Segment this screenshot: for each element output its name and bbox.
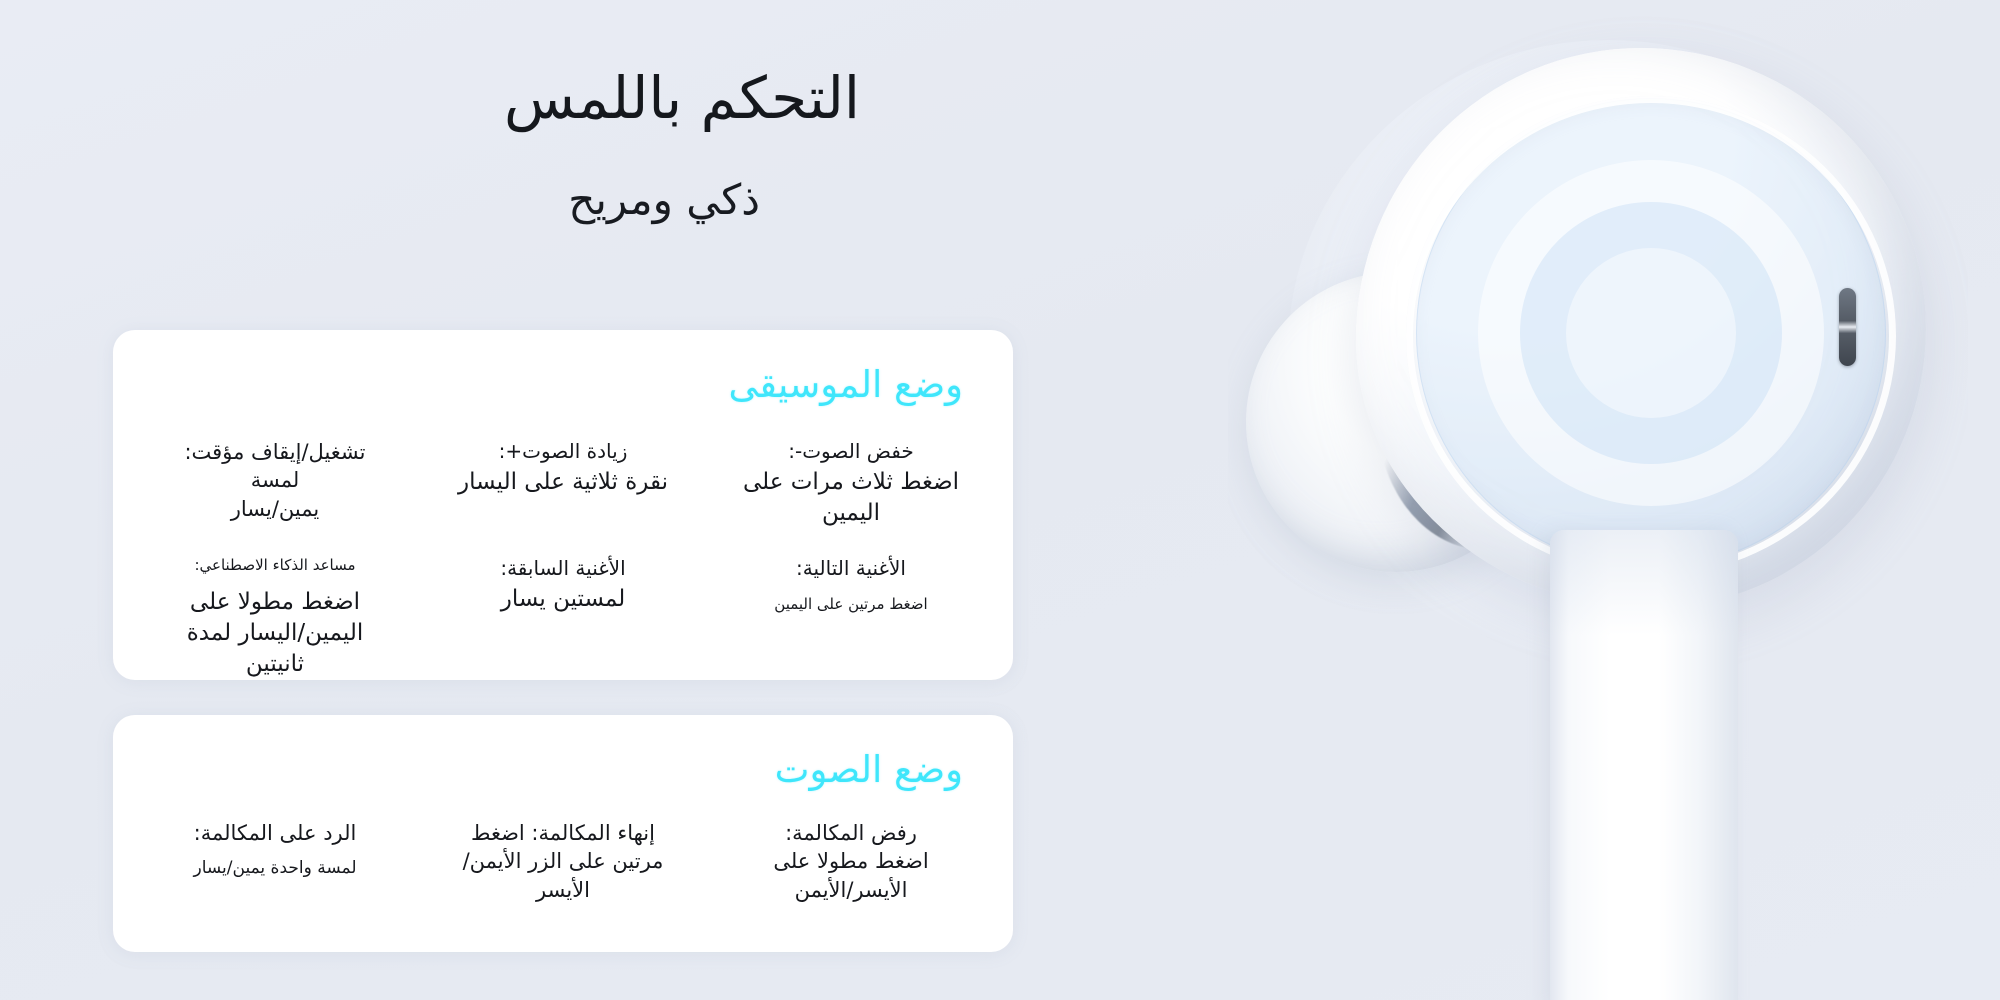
feature-label: الأغنية السابقة: xyxy=(453,555,673,582)
feature-value: اضغط مطولا على اليمين/اليسار لمدة ثانيتي… xyxy=(165,587,385,680)
earbud-rear-band xyxy=(1364,289,1593,562)
feature-label: الأغنية التالية: xyxy=(741,555,961,582)
feature-grid-voice: رفض المكالمة: اضغط مطولا على الأيسر/الأي… xyxy=(131,811,995,904)
feature-value: اضغط مرتين على اليمين xyxy=(741,594,961,614)
feature-reject-call: رفض المكالمة: اضغط مطولا على الأيسر/الأي… xyxy=(707,811,995,904)
feature-label: رفض المكالمة: xyxy=(741,819,961,847)
feature-grid-music: خفض الصوت-: اضغط ثلاث مرات على اليمين زي… xyxy=(131,430,995,680)
feature-play-pause: تشغيل/إيقاف مؤقت: لمسة يمين/يسار xyxy=(131,430,419,529)
feature-label: إنهاء المكالمة: اضغط xyxy=(453,819,673,847)
page-title: التحكم باللمس xyxy=(40,62,860,135)
earbud-glow xyxy=(1288,40,1928,660)
feature-previous-track: الأغنية السابقة: لمستين يسار xyxy=(419,547,707,680)
card-music-mode: وضع الموسيقى خفض الصوت-: اضغط ثلاث مرات … xyxy=(113,330,1013,680)
earbud-stem-shading xyxy=(1550,530,1738,1000)
feature-value: يمين/يسار xyxy=(165,495,385,523)
touch-ripple-outer-icon xyxy=(1416,98,1886,568)
feature-next-track: الأغنية التالية: اضغط مرتين على اليمين xyxy=(707,547,995,680)
card-voice-mode: وضع الصوت رفض المكالمة: اضغط مطولا على ا… xyxy=(113,715,1013,952)
feature-value: اضغط ثلاث مرات على اليمين xyxy=(741,467,961,529)
feature-value: لمسة واحدة يمين/يسار xyxy=(165,857,385,880)
feature-label: خفض الصوت-: xyxy=(741,438,961,465)
earbud-stem xyxy=(1550,530,1738,1000)
page-root: التحكم باللمس ذكي ومريح وضع الموسيقى خفض… xyxy=(0,0,2000,1000)
earbud-rim xyxy=(1406,96,1896,576)
card-title-music-mode: وضع الموسيقى xyxy=(728,366,963,403)
feature-volume-up: زيادة الصوت+: نقرة ثلاثية على اليسار xyxy=(419,430,707,529)
touch-ripple-mid-icon xyxy=(1478,160,1824,506)
feature-value: لمستين يسار xyxy=(453,584,673,615)
product-image-earbud xyxy=(1228,0,1968,1000)
feature-ai-assistant: مساعد الذكاء الاصطناعي: اضغط مطولا على ا… xyxy=(131,547,419,680)
feature-volume-down: خفض الصوت-: اضغط ثلاث مرات على اليمين xyxy=(707,430,995,529)
feature-label: مساعد الذكاء الاصطناعي: xyxy=(165,555,385,575)
feature-answer-call: الرد على المكالمة: لمسة واحدة يمين/يسار xyxy=(131,811,419,904)
feature-label: زيادة الصوت+: xyxy=(453,438,673,465)
page-subtitle: ذكي ومريح xyxy=(40,173,940,228)
feature-value: مرتين على الزر الأيمن/الأيسر xyxy=(453,847,673,904)
touch-ripple-core-icon xyxy=(1566,248,1736,418)
header-block: التحكم باللمس ذكي ومريح xyxy=(40,62,940,227)
earbud-rear-body xyxy=(1246,272,1546,572)
earbud-head xyxy=(1356,48,1926,608)
card-title-voice-mode: وضع الصوت xyxy=(775,751,963,788)
feature-label: الرد على المكالمة: xyxy=(165,819,385,847)
touch-sensor-slot-icon xyxy=(1839,288,1856,366)
touch-ripple-inner-icon xyxy=(1520,202,1782,464)
feature-label: تشغيل/إيقاف مؤقت: لمسة xyxy=(165,438,385,495)
feature-end-call: إنهاء المكالمة: اضغط مرتين على الزر الأي… xyxy=(419,811,707,904)
feature-value: اضغط مطولا على الأيسر/الأيمن xyxy=(741,847,961,904)
feature-value: نقرة ثلاثية على اليسار xyxy=(453,467,673,498)
